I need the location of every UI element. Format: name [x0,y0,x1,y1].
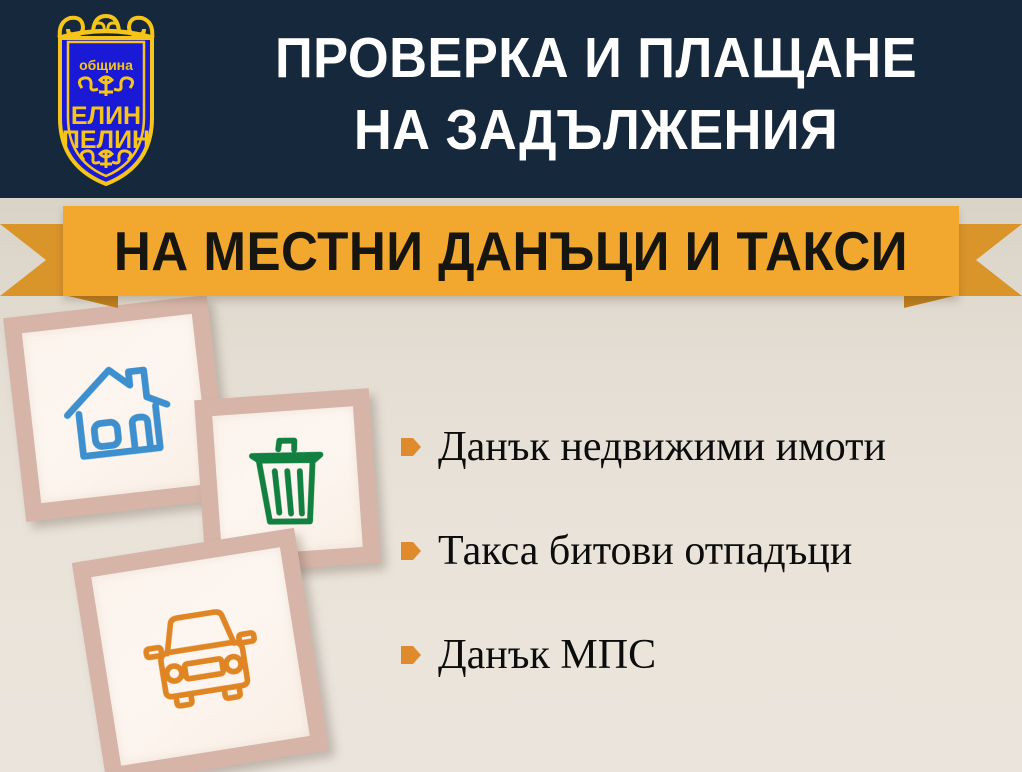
page-title-line-1: ПРОВЕРКА И ПЛАЩАНЕ [219,22,973,94]
list-item[interactable]: Данък МПС [400,632,1012,678]
ribbon-fold-left [60,294,118,308]
list-item[interactable]: Такса битови отпадъци [400,528,1012,574]
stamp-inner [91,547,310,766]
page-title-line-2: НА ЗАДЪЛЖЕНИЯ [219,94,973,166]
pennant-arrow-bullet-icon [400,538,422,564]
stamp-border [72,528,329,772]
list-item[interactable]: Данък недвижими имоти [400,424,1012,470]
ribbon-center-band: НА МЕСТНИ ДАНЪЦИ И ТАКСИ [63,206,959,296]
stamp-inner [22,314,211,503]
stamp-card-group [0,300,420,770]
trash-can-icon [238,428,337,534]
ribbon-fold-right [904,294,962,308]
crest-word-top: община [79,57,133,73]
list-item-label: Такса битови отпадъци [438,528,852,574]
subtitle-ribbon: НА МЕСТНИ ДАНЪЦИ И ТАКСИ [0,198,1022,308]
stamp-card-car [72,528,329,772]
tax-type-list: Данък недвижими имоти Такса битови отпад… [400,424,1012,736]
ribbon-label: НА МЕСТНИ ДАНЪЦИ И ТАКСИ [114,222,908,280]
car-front-icon [132,596,269,718]
pennant-arrow-bullet-icon [400,434,422,460]
header-banner: община ЕЛИН ПЕЛИН [0,0,1022,198]
header-title-group: ПРОВЕРКА И ПЛАЩАНЕ НА ЗАДЪЛЖЕНИЯ [186,22,1006,166]
poster-root: община ЕЛИН ПЕЛИН [0,0,1022,772]
list-item-label: Данък недвижими имоти [438,424,886,470]
coat-of-arms: община ЕЛИН ПЕЛИН [38,8,174,190]
house-icon [53,349,180,467]
pennant-arrow-bullet-icon [400,642,422,668]
list-item-label: Данък МПС [438,632,656,678]
